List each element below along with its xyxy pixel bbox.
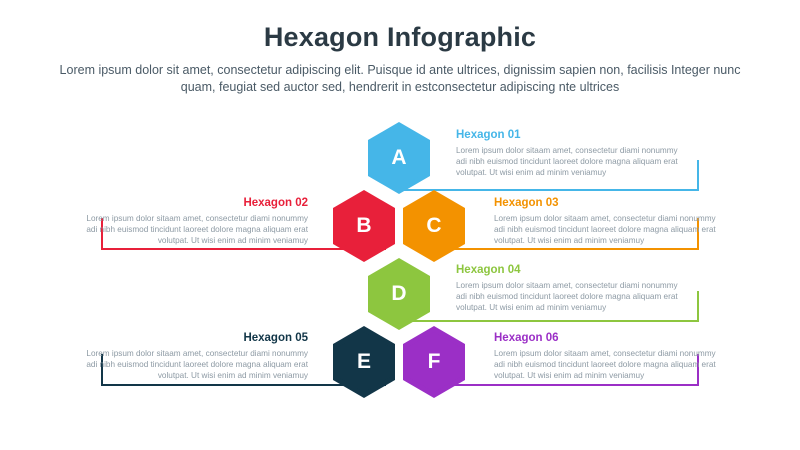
connector-line-06 [440, 384, 699, 386]
hexagon-node-03[interactable]: C [403, 190, 465, 262]
hexagon-node-03-letter: C [426, 214, 441, 238]
connector-line-04 [399, 320, 699, 322]
content-block-01-title: Hexagon 01 [456, 128, 688, 142]
content-block-03-body: Lorem ipsum dolor sitaam amet, consectet… [494, 213, 726, 247]
content-block-05-title: Hexagon 05 [76, 331, 308, 345]
hexagon-node-06-letter: F [428, 350, 441, 374]
content-block-05: Hexagon 05 Lorem ipsum dolor sitaam amet… [76, 331, 308, 382]
page-subtitle: Lorem ipsum dolor sit amet, consectetur … [50, 62, 750, 96]
hexagon-node-06-inner: F [408, 332, 460, 392]
hexagon-node-02-inner: B [338, 196, 390, 256]
hexagon-node-01-letter: A [391, 146, 406, 170]
content-block-02-body: Lorem ipsum dolor sitaam amet, consectet… [76, 213, 308, 247]
hexagon-node-01[interactable]: A [368, 122, 430, 194]
hexagon-node-04-letter: D [391, 282, 406, 306]
hexagon-node-04-inner: D [373, 264, 425, 324]
page-title: Hexagon Infographic [0, 22, 800, 53]
hexagon-node-05[interactable]: E [333, 326, 395, 398]
connector-stub-01 [697, 160, 699, 191]
content-block-06-body: Lorem ipsum dolor sitaam amet, consectet… [494, 348, 726, 382]
content-block-01-body: Lorem ipsum dolor sitaam amet, consectet… [456, 145, 688, 179]
content-block-03-title: Hexagon 03 [494, 196, 726, 210]
connector-line-01 [399, 189, 699, 191]
content-block-06: Hexagon 06 Lorem ipsum dolor sitaam amet… [494, 331, 726, 382]
hexagon-node-06[interactable]: F [403, 326, 465, 398]
content-block-03: Hexagon 03 Lorem ipsum dolor sitaam amet… [494, 196, 726, 247]
connector-stub-04 [697, 291, 699, 322]
content-block-05-body: Lorem ipsum dolor sitaam amet, consectet… [76, 348, 308, 382]
content-block-02-title: Hexagon 02 [76, 196, 308, 210]
hexagon-node-02[interactable]: B [333, 190, 395, 262]
infographic-canvas: Hexagon Infographic Lorem ipsum dolor si… [0, 0, 800, 450]
content-block-02: Hexagon 02 Lorem ipsum dolor sitaam amet… [76, 196, 308, 247]
hexagon-node-01-inner: A [373, 128, 425, 188]
content-block-04-title: Hexagon 04 [456, 263, 688, 277]
hexagon-node-05-letter: E [357, 350, 371, 374]
hexagon-node-02-letter: B [356, 214, 371, 238]
hexagon-node-05-inner: E [338, 332, 390, 392]
content-block-01: Hexagon 01 Lorem ipsum dolor sitaam amet… [456, 128, 688, 179]
content-block-04-body: Lorem ipsum dolor sitaam amet, consectet… [456, 280, 688, 314]
content-block-06-title: Hexagon 06 [494, 331, 726, 345]
content-block-04: Hexagon 04 Lorem ipsum dolor sitaam amet… [456, 263, 688, 314]
connector-line-03 [440, 248, 699, 250]
hexagon-node-03-inner: C [408, 196, 460, 256]
